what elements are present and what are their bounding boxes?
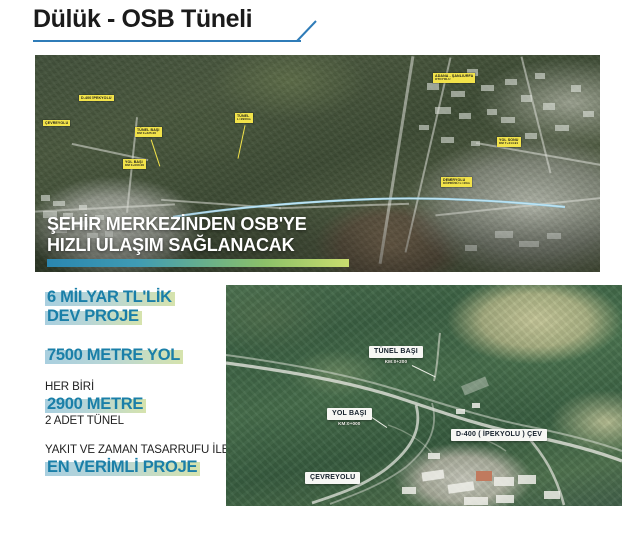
banner-line-2: HIZLI ULAŞIM SAĞLANACAK	[47, 235, 347, 256]
fact-cost-line2: DEV PROJE	[45, 307, 142, 326]
map-label-yol-basi: YOL BAŞI KM 0+000.00	[123, 159, 146, 169]
facts-column: 6 MİLYAR TL'LİK DEV PROJE 7500 METRE YOL…	[45, 288, 230, 480]
title-underline	[33, 40, 301, 42]
map-label-demiryolu-koprusu: DEMİRYOLU KÖPRÜSÜ L=40m	[441, 177, 472, 187]
page-title: Dülük - OSB Tüneli	[33, 4, 333, 34]
photo-label-cevreyolu: ÇEVREYOLU	[305, 472, 360, 484]
fact-cost: 6 MİLYAR TL'LİK DEV PROJE	[45, 288, 230, 326]
fact-tunnel-each-label: HER BİRİ	[45, 380, 230, 395]
map-label-adana-sanliurfa-otoyolu: ADANA - ŞANLIURFA OTOYOLU	[433, 73, 475, 83]
photo-label-d400-ipekyolu: D-400 ( İPEKYOLU ) ÇEV	[451, 429, 547, 441]
diagonal-slash-icon	[295, 20, 319, 42]
infographic-page: Dülük - OSB Tüneli	[0, 0, 640, 533]
aerial-photo-bottom: TÜNEL BAŞI KM:0+200 YOL BAŞI KM:0+000 D-…	[226, 285, 622, 506]
photo-label-yol-basi: YOL BAŞI KM:0+000	[327, 408, 372, 420]
banner-gradient-bar	[47, 259, 349, 267]
photo-label-tunel-basi: TÜNEL BAŞI KM:0+200	[369, 346, 423, 358]
fact-cost-line1: 6 MİLYAR TL'LİK	[45, 288, 175, 307]
fact-road-length-value: 7500 METRE YOL	[45, 346, 183, 365]
fact-saving-value: EN VERİMLİ PROJE	[45, 458, 200, 477]
page-header: Dülük - OSB Tüneli	[33, 4, 333, 50]
banner-line-1: ŞEHİR MERKEZİNDEN OSB'YE	[47, 214, 347, 235]
banner-callout: ŞEHİR MERKEZİNDEN OSB'YE HIZLI ULAŞIM SA…	[47, 214, 347, 267]
fact-tunnel-count: 2 ADET TÜNEL	[45, 414, 230, 429]
map-label-tunel-basi: TÜNEL BAŞI KM 0+325.00	[135, 127, 162, 137]
map-label-tunel-uzunluk: TÜNEL L=2900m	[235, 113, 253, 123]
map-label-yol-sonu: YOL SONU KM 7+414.91	[497, 137, 521, 147]
map-label-cevreyolu: ÇEVREYOLU	[43, 120, 70, 126]
map-label-d400-ipekyolu: D-400 İPEKYOLU	[79, 95, 114, 101]
fact-road-length: 7500 METRE YOL	[45, 346, 230, 365]
fact-tunnel: HER BİRİ 2900 METRE 2 ADET TÜNEL	[45, 380, 230, 429]
fact-saving: YAKIT VE ZAMAN TASARRUFU İLE EN VERİMLİ …	[45, 443, 230, 477]
fact-tunnel-length-value: 2900 METRE	[45, 395, 146, 414]
fact-saving-label: YAKIT VE ZAMAN TASARRUFU İLE	[45, 443, 230, 458]
